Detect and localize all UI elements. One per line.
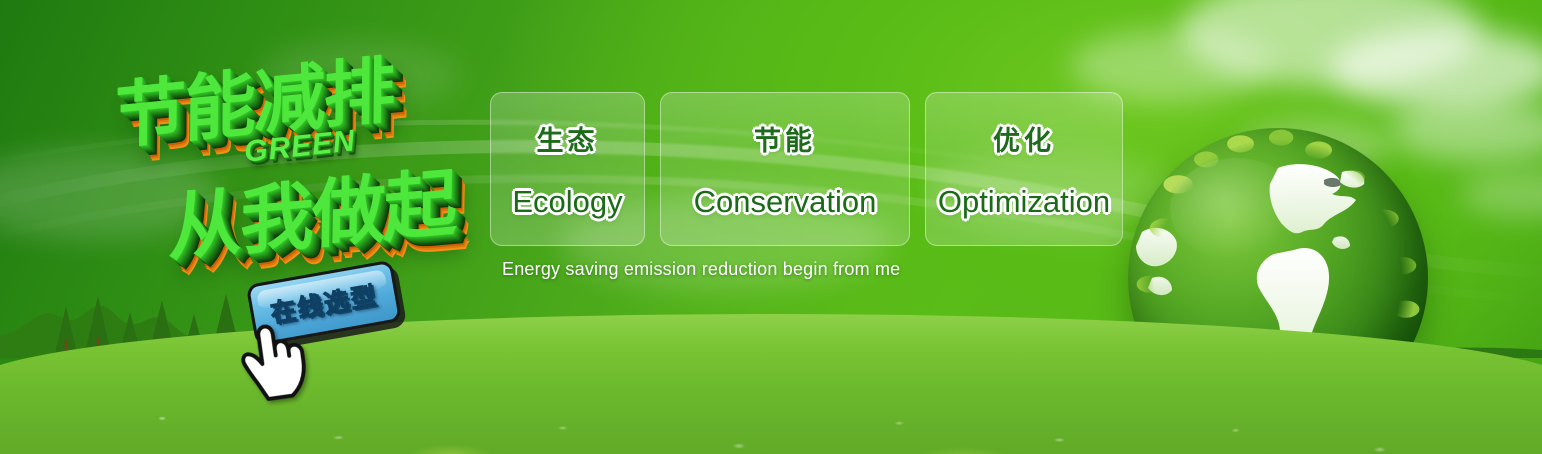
feature-card-en-label: Ecology [512,184,622,220]
globe-highlight [1170,158,1302,260]
cloud-icon [1330,28,1542,110]
feature-card-optimization[interactable]: 优化 Optimization [925,92,1123,246]
feature-card-en-label: Optimization [938,184,1110,220]
logo-line-1: 节能减排 [114,30,394,162]
logo-line-2: 从我做起 [168,143,457,276]
feature-card-group: 生态 Ecology 节能 Conservation 优化 Optimizati… [490,92,1123,246]
feature-card-cn-label: 优化 [993,119,1055,158]
logo-green-word: GREEN [243,124,358,169]
cloud-icon [1240,120,1390,172]
feature-card-en-label: Conservation [694,184,877,220]
grass-field [0,314,1542,454]
feature-card-cn-label: 生态 [537,119,599,158]
feature-card-cn-label: 节能 [754,119,816,158]
feature-card-ecology[interactable]: 生态 Ecology [490,92,645,246]
cloud-icon [0,150,220,240]
grass-texture [0,344,1542,454]
feature-card-conservation[interactable]: 节能 Conservation [660,92,910,246]
eco-promo-banner: 节能减排 GREEN 从我做起 生态 Ecology 节能 Conservati… [0,0,1542,454]
cloud-icon [1390,100,1542,162]
banner-tagline: Energy saving emission reduction begin f… [502,259,900,280]
cloud-icon [260,40,460,110]
cloud-icon [1180,0,1480,86]
eco-slogan-3d-logo: 节能减排 GREEN 从我做起 [96,38,496,268]
cloud-icon [1460,170,1542,218]
online-selection-label: 在线选型 [268,276,381,330]
